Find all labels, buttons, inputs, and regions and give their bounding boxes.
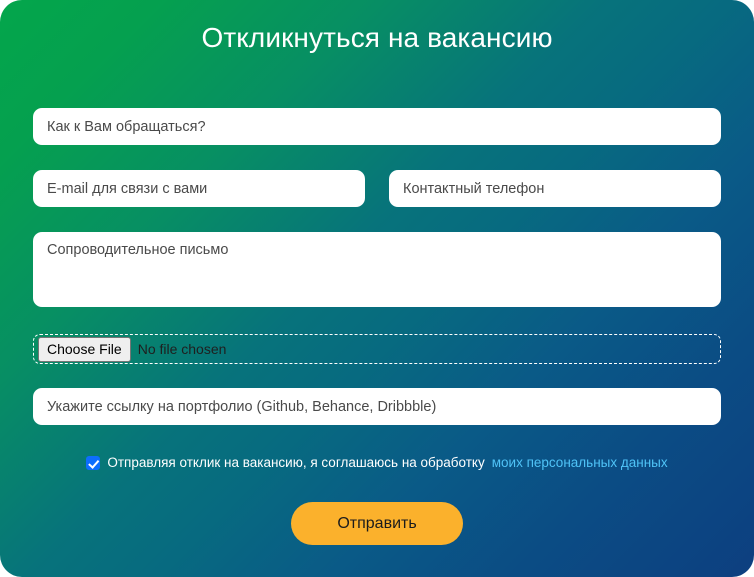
email-input[interactable] [33, 170, 365, 207]
consent-checkbox[interactable] [86, 456, 100, 470]
job-application-form-card: Откликнуться на вакансию Choose File No … [0, 0, 754, 577]
resume-file-upload[interactable]: Choose File No file chosen [33, 334, 721, 364]
personal-data-policy-link[interactable]: моих персональных данных [492, 455, 668, 470]
file-status-label: No file chosen [138, 341, 227, 357]
submit-button[interactable]: Отправить [291, 502, 463, 545]
choose-file-button[interactable]: Choose File [38, 337, 131, 362]
phone-input[interactable] [389, 170, 721, 207]
consent-row: Отправляя отклик на вакансию, я соглашаю… [0, 455, 754, 470]
page-title: Откликнуться на вакансию [0, 21, 754, 55]
name-input[interactable] [33, 108, 721, 145]
portfolio-link-input[interactable] [33, 388, 721, 425]
consent-label: Отправляя отклик на вакансию, я соглашаю… [107, 455, 484, 470]
cover-letter-textarea[interactable] [33, 232, 721, 307]
